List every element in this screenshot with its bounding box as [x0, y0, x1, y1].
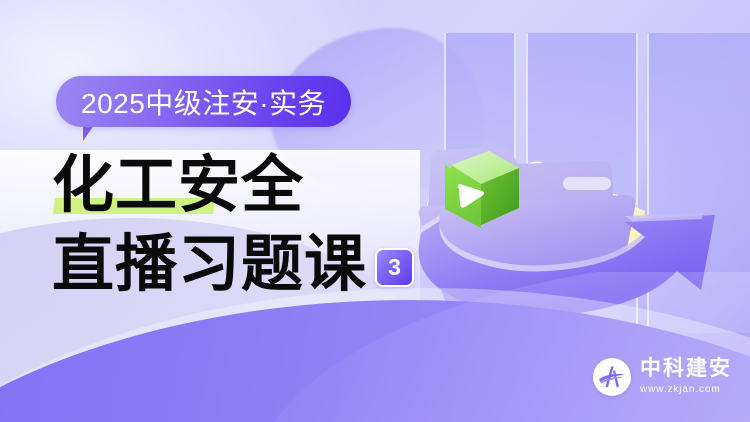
headline-line-1-text: 化工安全	[52, 152, 304, 220]
zkjan-circle-logo-icon	[593, 358, 631, 396]
badge-label: 2025中级注安·实务	[56, 76, 351, 127]
course-banner: 2025中级注安·实务 化工安全 直播习题课3 中科建安 www.zkjan.c…	[0, 0, 750, 422]
logo-website-url: www.zkjan.com	[640, 383, 732, 396]
course-category-badge: 2025中级注安·实务	[56, 76, 351, 127]
headline-line-2-text: 直播习题课	[52, 231, 367, 299]
brand-logo[interactable]: 中科建安 www.zkjan.com	[593, 358, 732, 396]
headline-line-2: 直播习题课3	[52, 234, 482, 296]
headline-block: 化工安全 直播习题课3	[52, 155, 482, 296]
logo-company-name: 中科建安	[640, 358, 732, 381]
episode-number-badge: 3	[375, 248, 414, 287]
badge-tail-icon	[83, 125, 101, 141]
headline-line-1: 化工安全	[52, 155, 482, 217]
logo-text-block: 中科建安 www.zkjan.com	[640, 358, 732, 396]
